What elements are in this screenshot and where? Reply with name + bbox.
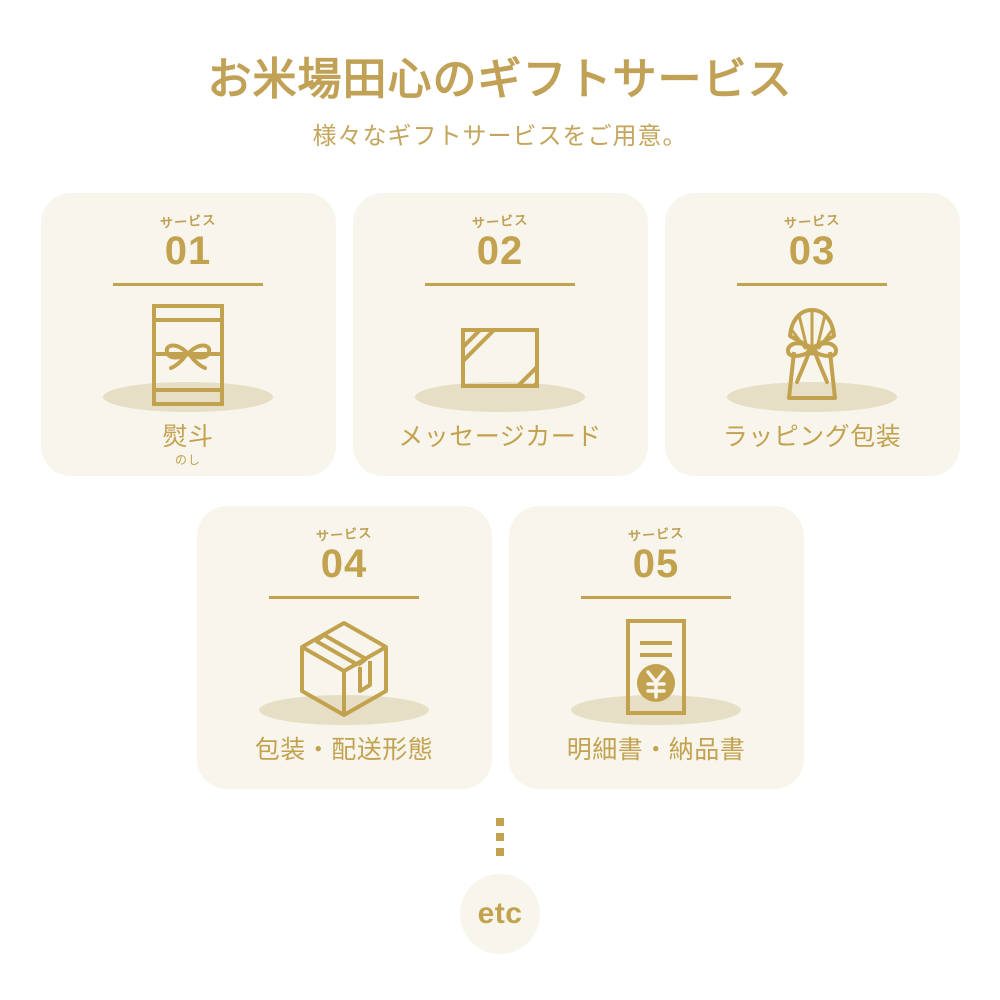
- service-card-label: サービス: [783, 209, 840, 229]
- dot-square: [496, 833, 504, 841]
- service-card-divider: [269, 596, 419, 599]
- noshi-gift-envelope-icon: [145, 302, 231, 408]
- service-card-number: 04: [321, 544, 368, 584]
- service-card-divider: [425, 283, 575, 286]
- service-card-03[interactable]: サービス 03: [665, 193, 960, 476]
- service-card-number: 01: [165, 231, 212, 271]
- service-card-divider: [737, 283, 887, 286]
- service-card-number: 02: [477, 231, 524, 271]
- service-card-title-text: メッセージカード: [398, 423, 602, 451]
- service-card-divider: [581, 596, 731, 599]
- service-card-label: サービス: [315, 522, 372, 542]
- dot-square: [496, 818, 504, 826]
- etc-badge[interactable]: etc: [460, 874, 540, 954]
- service-card-title-text: 包装・配送形態: [255, 736, 434, 764]
- service-card-row-2: サービス 04 包: [0, 506, 1000, 789]
- service-card-number: 05: [633, 544, 680, 584]
- service-card-number: 03: [789, 231, 836, 271]
- service-card-row-1: サービス 01 熨: [0, 193, 1000, 476]
- footer-etc-section: etc: [0, 818, 1000, 954]
- service-card-label: サービス: [627, 522, 684, 542]
- service-card-icon-area: [229, 611, 459, 721]
- service-card-icon-area: [73, 298, 303, 408]
- gift-service-page: お米場田心のギフトサービス 様々なギフトサービスをご用意。 サービス 01: [0, 0, 1000, 1000]
- service-card-title-text: 熨斗: [162, 423, 213, 451]
- service-card-04[interactable]: サービス 04 包: [197, 506, 492, 789]
- service-card-label: サービス: [159, 209, 216, 229]
- service-card-title-text: ラッピング包装: [723, 423, 902, 451]
- service-card-divider: [113, 283, 263, 286]
- service-card-title-ruby: のし: [162, 454, 213, 467]
- service-card-icon-area: [385, 298, 615, 408]
- service-card-title: 明細書・納品書: [567, 737, 746, 765]
- vertical-dots-icon: [496, 818, 504, 856]
- service-card-label: サービス: [471, 209, 528, 229]
- dot-square: [496, 848, 504, 856]
- service-card-02[interactable]: サービス 02: [353, 193, 648, 476]
- shipping-box-icon: [292, 615, 396, 721]
- wrapping-pouch-icon: [767, 302, 857, 408]
- service-card-grid: サービス 01 熨: [0, 193, 1000, 789]
- message-card-icon: [450, 302, 550, 408]
- service-card-title: 包装・配送形態: [255, 737, 434, 765]
- invoice-yen-document-icon: [614, 615, 698, 721]
- service-card-title: ラッピング包装: [723, 424, 902, 452]
- page-subtitle: 様々なギフトサービスをご用意。: [0, 121, 1000, 152]
- service-card-05[interactable]: サービス 05 明細書・納品書: [509, 506, 804, 789]
- page-title: お米場田心のギフトサービス: [0, 52, 1000, 107]
- service-card-01[interactable]: サービス 01 熨: [41, 193, 336, 476]
- service-card-title-text: 明細書・納品書: [567, 736, 746, 764]
- service-card-title: 熨斗 のし: [162, 424, 213, 467]
- service-card-icon-area: [697, 298, 927, 408]
- page-header: お米場田心のギフトサービス 様々なギフトサービスをご用意。: [0, 52, 1000, 152]
- service-card-icon-area: [541, 611, 771, 721]
- service-card-title: メッセージカード: [398, 424, 602, 452]
